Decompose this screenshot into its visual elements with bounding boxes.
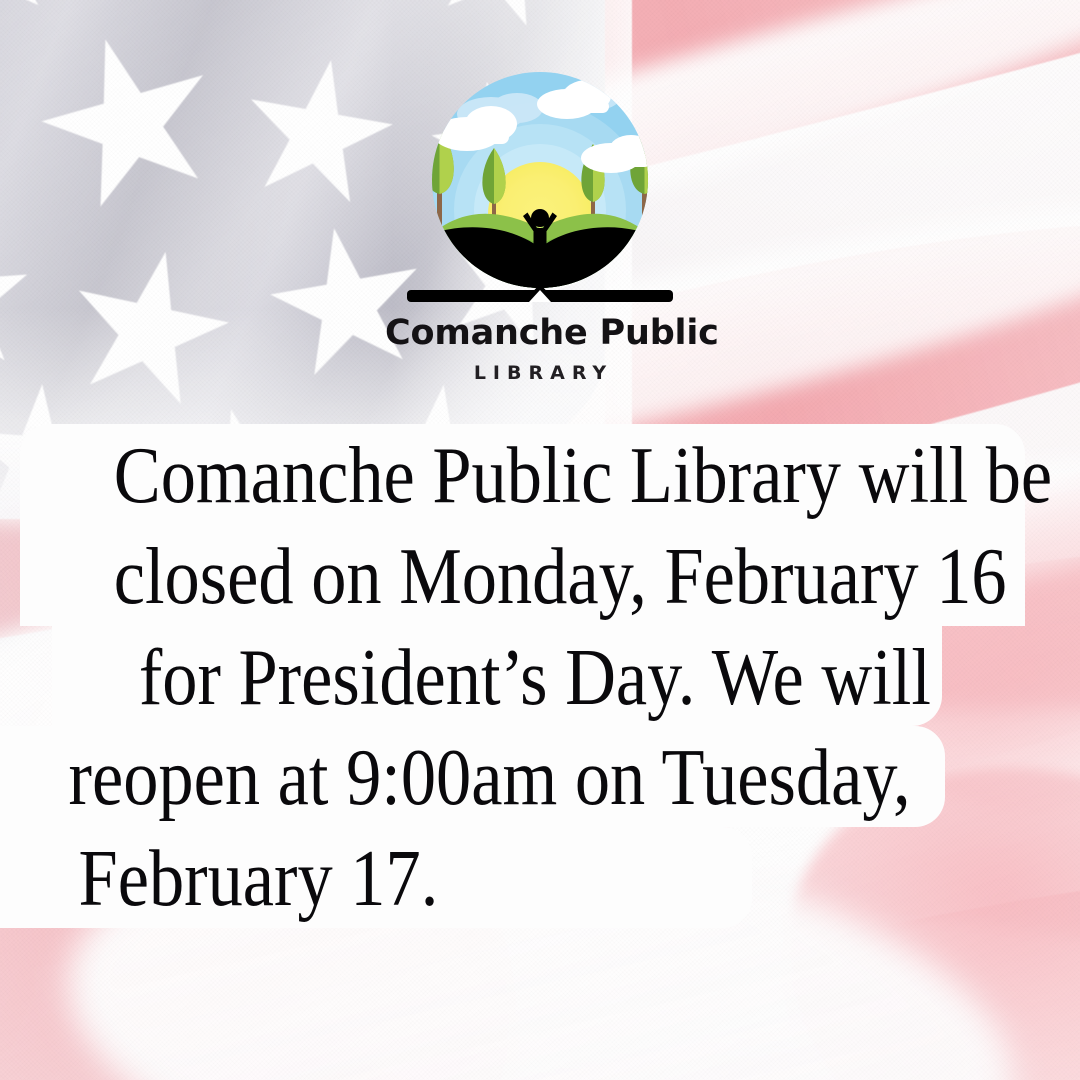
- announcement-line-text: Comanche Public Library will be: [114, 438, 932, 515]
- announcement-text-block: Comanche Public Library will be closed o…: [0, 424, 1080, 928]
- announcement-line-text: reopen at 9:00am on Tuesday,: [69, 740, 854, 817]
- announcement-line-highlight: for President’s Day. We will: [52, 626, 942, 727]
- announcement-line-text: February 17.: [79, 841, 674, 918]
- announcement-line-highlight: closed on Monday, February 16: [20, 525, 1025, 626]
- logo-name: Comanche Public: [385, 316, 695, 351]
- announcement-line-text: for President’s Day. We will: [139, 640, 855, 717]
- book-base-icon: [407, 284, 673, 302]
- announcement-line-row: for President’s Day. We will: [0, 626, 1080, 727]
- announcement-line-row: February 17.: [0, 827, 1080, 928]
- announcement-line-text: closed on Monday, February 16: [114, 539, 932, 616]
- announcement-line-row: closed on Monday, February 16: [0, 525, 1080, 626]
- library-logo: Comanche Public LIBRARY: [385, 62, 695, 384]
- announcement-line-row: Comanche Public Library will be: [0, 424, 1080, 525]
- open-book-sunrise-icon: [395, 62, 685, 312]
- announcement-line-highlight: reopen at 9:00am on Tuesday,: [0, 726, 945, 827]
- logo-mark: [395, 62, 685, 312]
- logo-subtitle: LIBRARY: [385, 362, 695, 384]
- announcement-line-row: reopen at 9:00am on Tuesday,: [0, 726, 1080, 827]
- announcement-line-highlight: Comanche Public Library will be: [20, 424, 1025, 525]
- announcement-line-highlight: February 17.: [0, 827, 752, 928]
- announcement-poster: Comanche Public LIBRARY Comanche Public …: [0, 0, 1080, 1080]
